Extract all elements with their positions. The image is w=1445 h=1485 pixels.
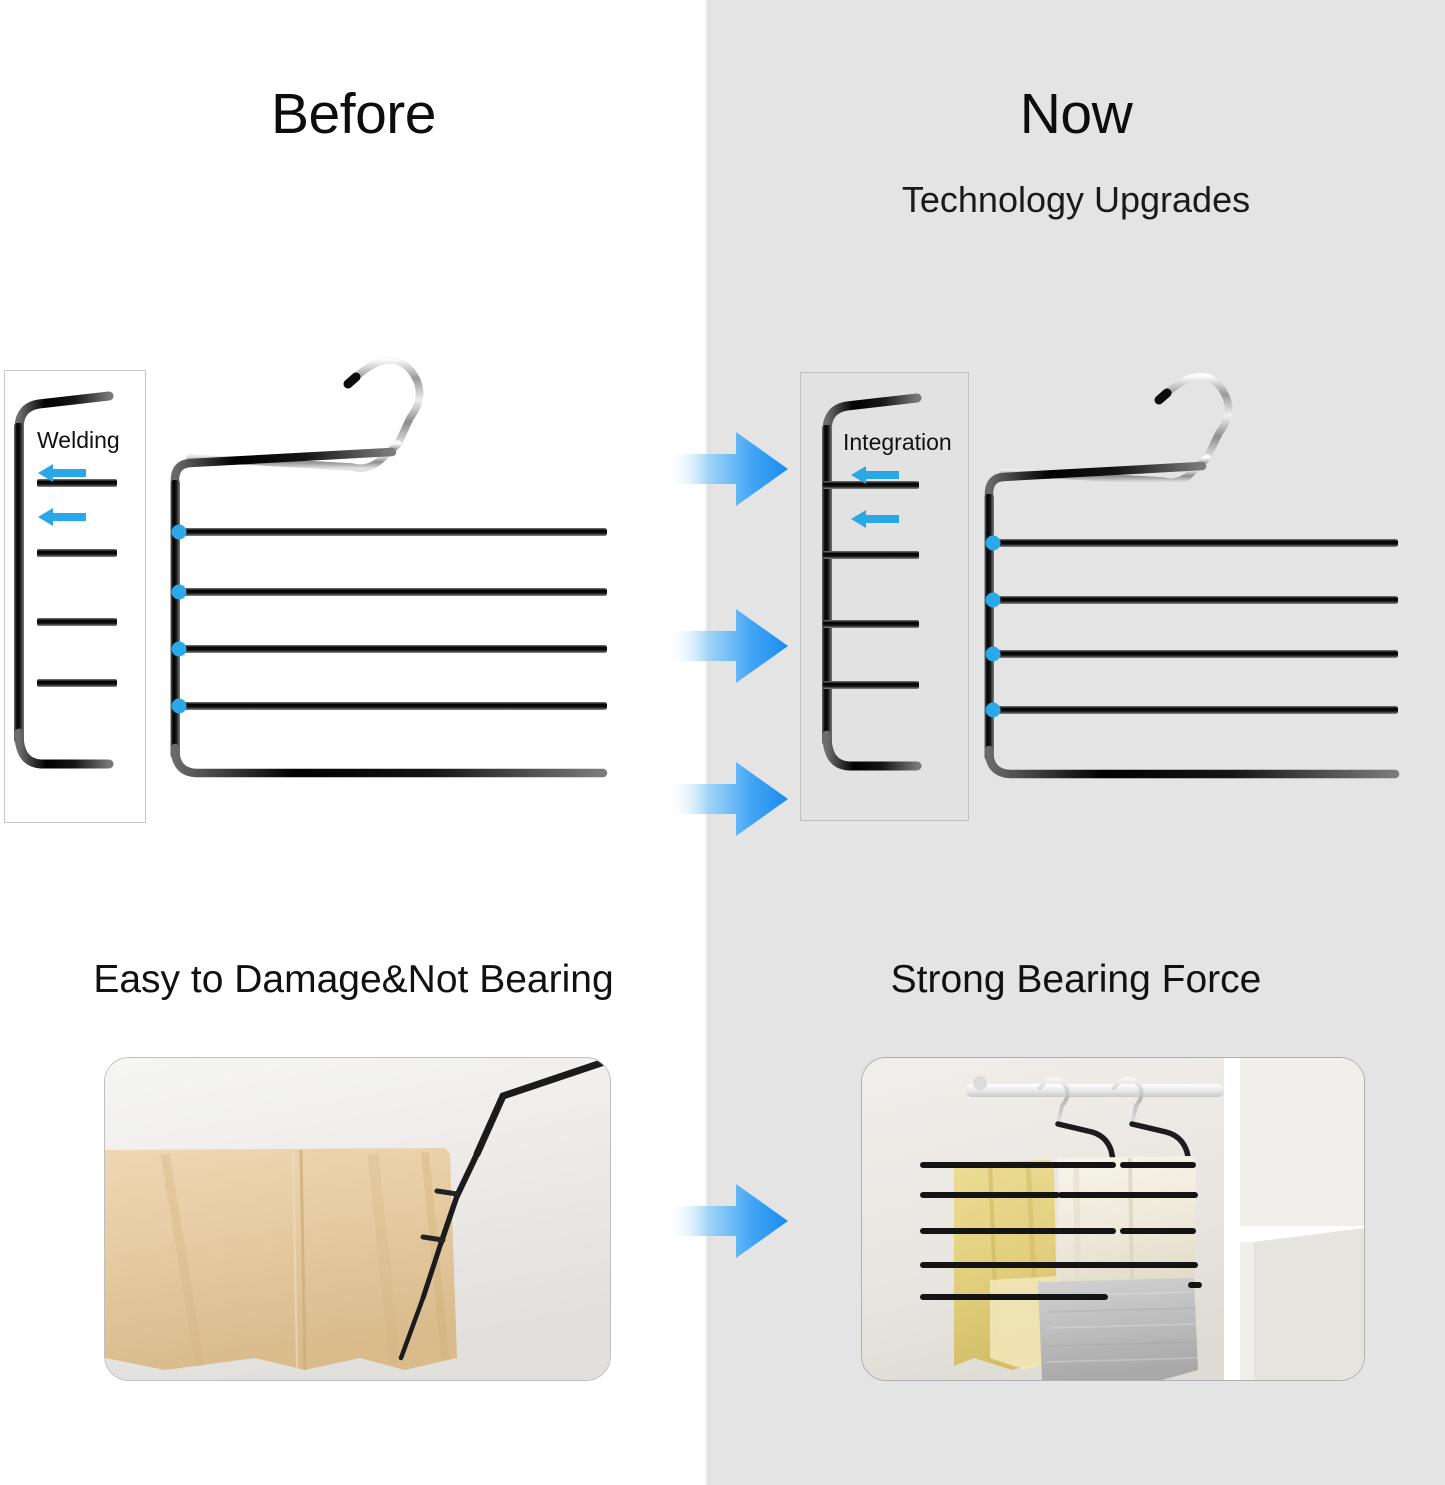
arrow-right-icon <box>668 428 790 510</box>
hanger-before <box>160 340 640 810</box>
damaged-hanger-photo <box>105 1058 610 1380</box>
callout-integration: Integration <box>800 372 969 821</box>
hanger-now <box>975 358 1425 808</box>
arrow-left-icon <box>849 465 901 485</box>
caption-now: Strong Bearing Force <box>707 960 1445 999</box>
arrow-right-icon <box>668 1180 790 1262</box>
heading-now: Now <box>707 86 1445 143</box>
infographic-root: Before Now Technology Upgrades <box>0 0 1445 1485</box>
joint-dot-icon <box>172 585 187 600</box>
heading-before: Before <box>0 86 707 143</box>
loaded-hangers-scene <box>862 1058 1364 1380</box>
callout-welding-label: Welding <box>37 429 120 452</box>
damaged-hanger-scene <box>105 1058 610 1380</box>
panel-divider <box>703 0 711 1485</box>
callout-integration-label: Integration <box>843 431 952 454</box>
arrow-right-icon <box>668 758 790 840</box>
joint-dot-icon <box>986 536 1001 551</box>
arrow-left-icon <box>36 507 88 527</box>
joint-dot-icon <box>986 703 1001 718</box>
joint-dot-icon <box>986 593 1001 608</box>
arrow-left-icon <box>849 509 901 529</box>
joint-dot-icon <box>172 642 187 657</box>
arrow-left-icon <box>36 463 88 483</box>
caption-before: Easy to Damage&Not Bearing <box>0 960 707 999</box>
callout-welding: Welding <box>4 370 146 823</box>
arrow-right-icon <box>668 605 790 687</box>
joint-dot-icon <box>172 525 187 540</box>
joint-dot-icon <box>986 647 1001 662</box>
subheading-now: Technology Upgrades <box>707 182 1445 218</box>
joint-dot-icon <box>172 699 187 714</box>
loaded-hangers-photo <box>862 1058 1364 1380</box>
